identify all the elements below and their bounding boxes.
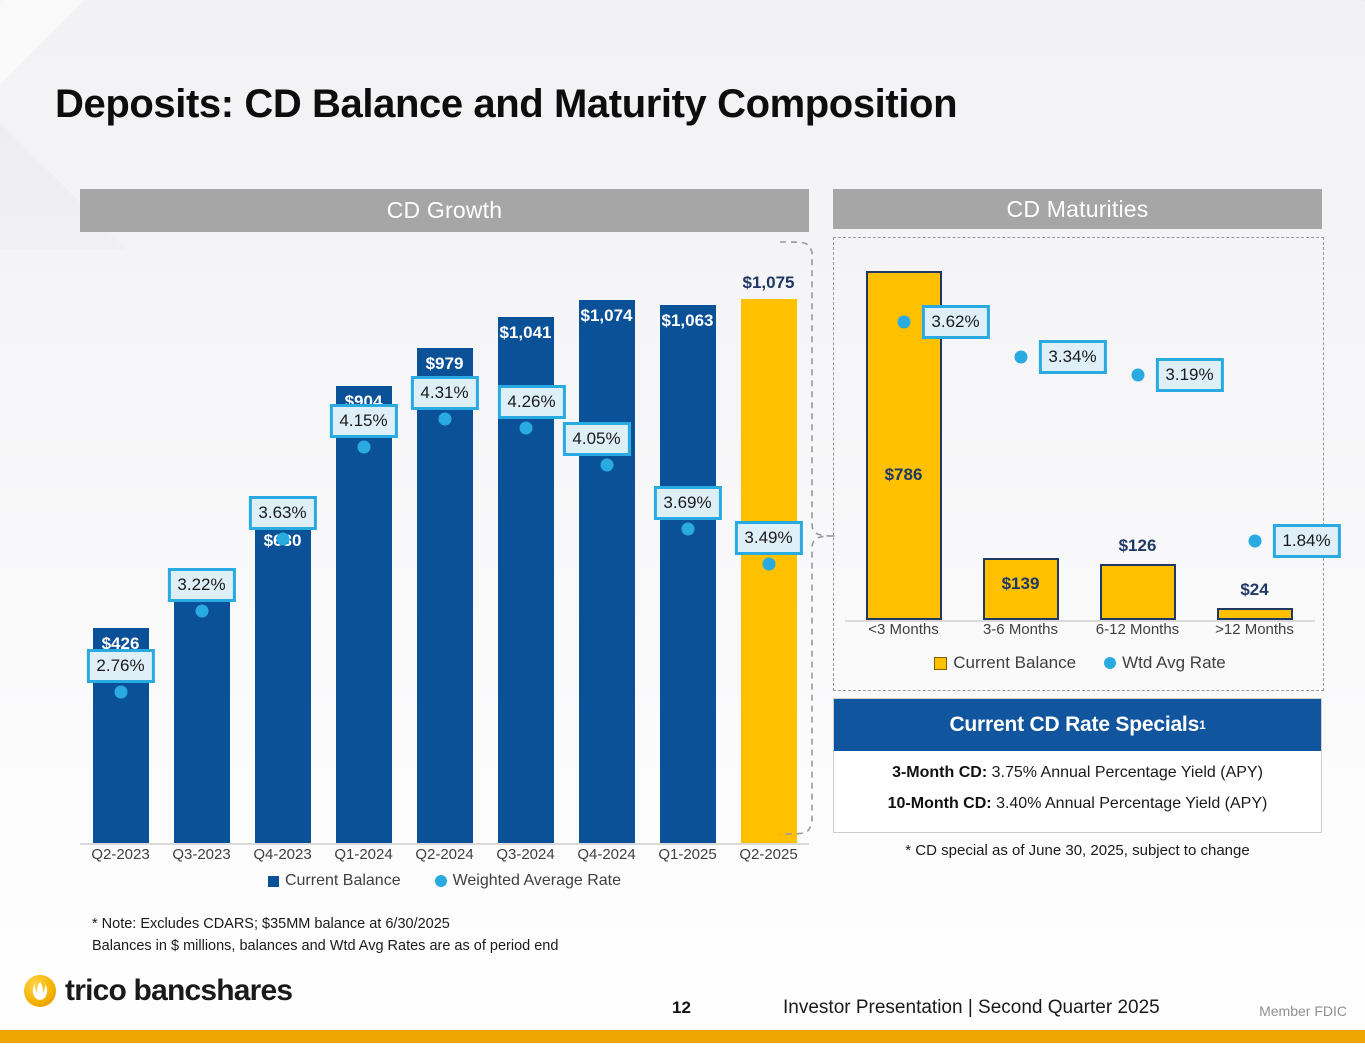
- chart-notes: * Note: Excludes CDARS; $35MM balance at…: [92, 913, 558, 957]
- growth-axis-tick: Q2-2025: [728, 846, 809, 863]
- growth-rate-dot: [276, 533, 289, 546]
- maturity-rate-dot: [897, 316, 910, 329]
- growth-bar: $630: [255, 525, 311, 844]
- cd-growth-header-label: CD Growth: [387, 197, 503, 224]
- cd-maturities-legend: Current Balance Wtd Avg Rate: [845, 653, 1315, 673]
- dot-marker-icon: [1104, 657, 1116, 669]
- cd-rate-specials-title: Current CD Rate Specials1: [834, 699, 1321, 751]
- cd-rate-specials-card: Current CD Rate Specials1 3-Month CD: 3.…: [833, 698, 1322, 833]
- dot-marker-icon: [435, 875, 447, 887]
- growth-rate-callout: 3.22%: [167, 568, 235, 602]
- growth-bar-value-label: $1,074: [579, 306, 635, 326]
- maturity-bar-value-label: $139: [985, 574, 1057, 594]
- maturity-axis-tick: 3-6 Months: [962, 621, 1079, 638]
- legend-label-wtd-avg-rate: Wtd Avg Rate: [1122, 653, 1226, 673]
- growth-bar: $1,075: [741, 299, 797, 844]
- maturity-axis-tick: <3 Months: [845, 621, 962, 638]
- legend-label-weighted-average-rate: Weighted Average Rate: [453, 872, 621, 890]
- cd-rate-specials-title-label: Current CD Rate Specials: [949, 713, 1199, 737]
- growth-rate-dot: [519, 422, 532, 435]
- company-logo: trico bancshares: [24, 974, 292, 1008]
- maturity-rate-callout: 1.84%: [1272, 524, 1340, 558]
- rate-special-detail: 3.40% Annual Percentage Yield (APY): [996, 795, 1267, 812]
- growth-axis-tick: Q3-2023: [161, 846, 242, 863]
- note-line-2: Balances in $ millions, balances and Wtd…: [92, 935, 558, 957]
- growth-rate-callout: 4.05%: [562, 422, 630, 456]
- cd-growth-axis-line: [80, 843, 809, 845]
- growth-bar: $1,074: [579, 300, 635, 844]
- maturity-bar: $139: [983, 558, 1059, 620]
- cd-growth-legend: Current Balance Weighted Average Rate: [80, 872, 809, 890]
- cd-special-footnote: * CD special as of June 30, 2025, subjec…: [833, 842, 1322, 859]
- growth-rate-callout: 4.26%: [497, 385, 565, 419]
- member-fdic-label: Member FDIC: [1259, 1003, 1347, 1019]
- growth-bar: $1,063: [660, 305, 716, 844]
- growth-bar-value-label: $1,075: [741, 273, 797, 293]
- maturity-rate-dot: [1248, 535, 1261, 548]
- growth-bar-value-label: $979: [417, 354, 473, 374]
- footnote-marker: 1: [1199, 718, 1205, 732]
- maturity-bar-value-label: $24: [1219, 580, 1291, 600]
- cd-growth-chart: $4262.76%$5303.22%$6303.63%$9044.15%$979…: [80, 236, 809, 844]
- rate-special-row: 3-Month CD: 3.75% Annual Percentage Yiel…: [834, 764, 1321, 782]
- legend-label-current-balance-mat: Current Balance: [953, 653, 1076, 673]
- growth-axis-tick: Q3-2024: [485, 846, 566, 863]
- maturity-rate-dot: [1014, 350, 1027, 363]
- growth-rate-dot: [600, 459, 613, 472]
- maturity-bar-value-label: $126: [1102, 536, 1174, 556]
- growth-axis-tick: Q4-2023: [242, 846, 323, 863]
- page-number: 12: [672, 998, 691, 1018]
- cd-growth-header: CD Growth: [80, 189, 809, 232]
- square-marker-icon: [268, 876, 279, 887]
- maturity-rate-callout: 3.34%: [1038, 340, 1106, 374]
- legend-item-current-balance-mat: Current Balance: [934, 653, 1076, 673]
- growth-rate-dot: [681, 522, 694, 535]
- maturity-bar: $24: [1217, 608, 1293, 620]
- maturity-bar: $126: [1100, 564, 1176, 620]
- growth-axis-tick: Q1-2024: [323, 846, 404, 863]
- growth-bar: $904: [336, 386, 392, 844]
- rate-special-detail: 3.75% Annual Percentage Yield (APY): [992, 764, 1263, 781]
- rate-special-term: 3-Month CD:: [892, 764, 987, 781]
- square-marker-icon: [934, 657, 947, 670]
- company-name: trico bancshares: [65, 974, 292, 1008]
- rate-special-term: 10-Month CD:: [888, 795, 992, 812]
- cd-maturities-header-label: CD Maturities: [1007, 196, 1149, 223]
- legend-item-weighted-average-rate: Weighted Average Rate: [435, 872, 621, 890]
- maturity-axis-tick: 6-12 Months: [1079, 621, 1196, 638]
- growth-rate-callout: 3.69%: [653, 486, 721, 520]
- page-title: Deposits: CD Balance and Maturity Compos…: [55, 82, 957, 127]
- growth-axis-tick: Q2-2023: [80, 846, 161, 863]
- legend-item-current-balance: Current Balance: [268, 872, 401, 890]
- growth-rate-callout: 4.31%: [410, 376, 478, 410]
- maturity-rate-callout: 3.19%: [1155, 358, 1223, 392]
- growth-bar-value-label: $1,063: [660, 311, 716, 331]
- growth-rate-callout: 3.63%: [248, 496, 316, 530]
- maturity-axis-tick: >12 Months: [1196, 621, 1313, 638]
- rate-special-row: 10-Month CD: 3.40% Annual Percentage Yie…: [834, 795, 1321, 813]
- footer-presentation-label: Investor Presentation | Second Quarter 2…: [783, 997, 1160, 1019]
- growth-rate-dot: [762, 557, 775, 570]
- growth-rate-callout: 2.76%: [86, 649, 154, 683]
- growth-axis-tick: Q2-2024: [404, 846, 485, 863]
- maturity-bar-value-label: $786: [868, 465, 940, 485]
- growth-rate-dot: [438, 413, 451, 426]
- growth-bar-value-label: $1,041: [498, 323, 554, 343]
- cd-maturities-chart: $7863.62%$1393.34%$1263.19%$241.84%: [845, 245, 1315, 620]
- note-line-1: * Note: Excludes CDARS; $35MM balance at…: [92, 913, 558, 935]
- legend-label-current-balance: Current Balance: [285, 872, 401, 890]
- footer-accent-bar: [0, 1030, 1365, 1043]
- trico-tulip-icon: [24, 975, 56, 1007]
- maturity-rate-callout: 3.62%: [921, 305, 989, 339]
- growth-rate-dot: [195, 605, 208, 618]
- legend-item-wtd-avg-rate: Wtd Avg Rate: [1104, 653, 1226, 673]
- growth-rate-callout: 4.15%: [329, 404, 397, 438]
- growth-rate-callout: 3.49%: [734, 521, 802, 555]
- growth-axis-tick: Q4-2024: [566, 846, 647, 863]
- cd-maturities-header: CD Maturities: [833, 189, 1322, 229]
- maturity-rate-dot: [1131, 369, 1144, 382]
- growth-axis-tick: Q1-2025: [647, 846, 728, 863]
- growth-rate-dot: [114, 686, 127, 699]
- growth-rate-dot: [357, 441, 370, 454]
